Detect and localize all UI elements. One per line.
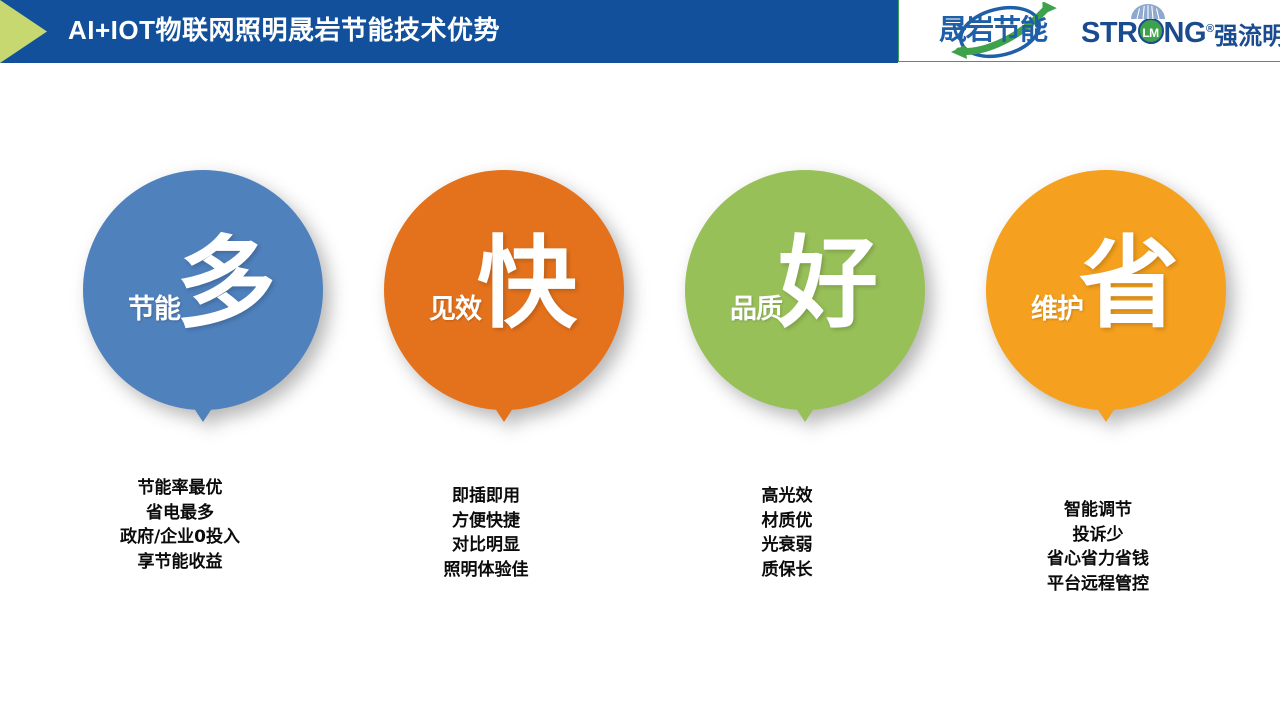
detail-list-2: 即插即用 方便快捷 对比明显 照明体验佳 — [336, 484, 636, 582]
logo-strong-wordmark: STRLMNG®强流明照明 — [1081, 2, 1280, 60]
logo-strong-post: NG — [1164, 17, 1207, 50]
bubble-label-group: 节能多 — [83, 170, 323, 410]
advantage-bubble-2[interactable]: 见效快 — [361, 170, 661, 440]
list-item: 节能率最优 — [30, 476, 330, 501]
slide-header: AI+IOT物联网照明晟岩节能技术优势 晟岩节能 — [0, 0, 1280, 63]
advantage-bubble-3[interactable]: 品质好 — [662, 170, 962, 440]
bubble-small-label: 见效 — [429, 287, 481, 326]
logo-cn-brand-text: 晟岩节能 — [911, 14, 1075, 46]
chevron-right-icon — [0, 0, 47, 63]
logo-lm-badge: LM — [1138, 18, 1164, 44]
list-item: 即插即用 — [336, 484, 636, 509]
detail-list-3: 高光效 材质优 光衰弱 质保长 — [637, 484, 937, 582]
bubble-small-label: 节能 — [128, 287, 180, 326]
advantage-bubbles-row: 节能多 见效快 品质好 维护省 — [0, 170, 1280, 440]
list-item: 高光效 — [637, 484, 937, 509]
detail-list-4: 智能调节 投诉少 省心省力省钱 平台远程管控 — [948, 498, 1248, 596]
list-item: 享节能收益 — [30, 550, 330, 575]
list-item: 照明体验佳 — [336, 558, 636, 583]
list-item: 方便快捷 — [336, 509, 636, 534]
list-item: 政府/企业0投入 — [30, 525, 330, 550]
bubble-big-label: 快 — [477, 234, 575, 334]
bubble-big-label: 多 — [176, 234, 274, 334]
bubble-label-group: 见效快 — [384, 170, 624, 410]
bubble-label-group: 品质好 — [685, 170, 925, 410]
list-item: 质保长 — [637, 558, 937, 583]
advantage-bubble-4[interactable]: 维护省 — [963, 170, 1263, 440]
page-title: AI+IOT物联网照明晟岩节能技术优势 — [68, 0, 500, 63]
bubble-label-group: 维护省 — [986, 170, 1226, 410]
logo-strong-pre: STR — [1081, 17, 1138, 50]
logo-cn-sub-text: 强流明照明 — [1214, 16, 1280, 51]
detail-list-1: 节能率最优 省电最多 政府/企业0投入 享节能收益 — [30, 476, 330, 574]
list-item: 投诉少 — [948, 523, 1248, 548]
bubble-small-label: 维护 — [1031, 287, 1083, 326]
bubble-big-label: 省 — [1079, 234, 1177, 334]
list-item: 省心省力省钱 — [948, 547, 1248, 572]
bubble-small-label: 品质 — [730, 287, 782, 326]
advantage-detail-lists: 节能率最优 省电最多 政府/企业0投入 享节能收益 即插即用 方便快捷 对比明显… — [0, 476, 1280, 646]
registered-trademark-icon: ® — [1206, 23, 1214, 35]
logo-shengyan-jieneng: 晟岩节能 — [907, 2, 1079, 60]
bubble-big-label: 好 — [778, 234, 876, 334]
advantage-bubble-1[interactable]: 节能多 — [60, 170, 360, 440]
list-item: 智能调节 — [948, 498, 1248, 523]
list-item: 平台远程管控 — [948, 572, 1248, 597]
brand-logo-panel: 晟岩节能 STRLMNG®强流明照明 — [898, 0, 1280, 62]
list-item: 省电最多 — [30, 501, 330, 526]
list-item: 材质优 — [637, 509, 937, 534]
list-item: 对比明显 — [336, 533, 636, 558]
list-item: 光衰弱 — [637, 533, 937, 558]
